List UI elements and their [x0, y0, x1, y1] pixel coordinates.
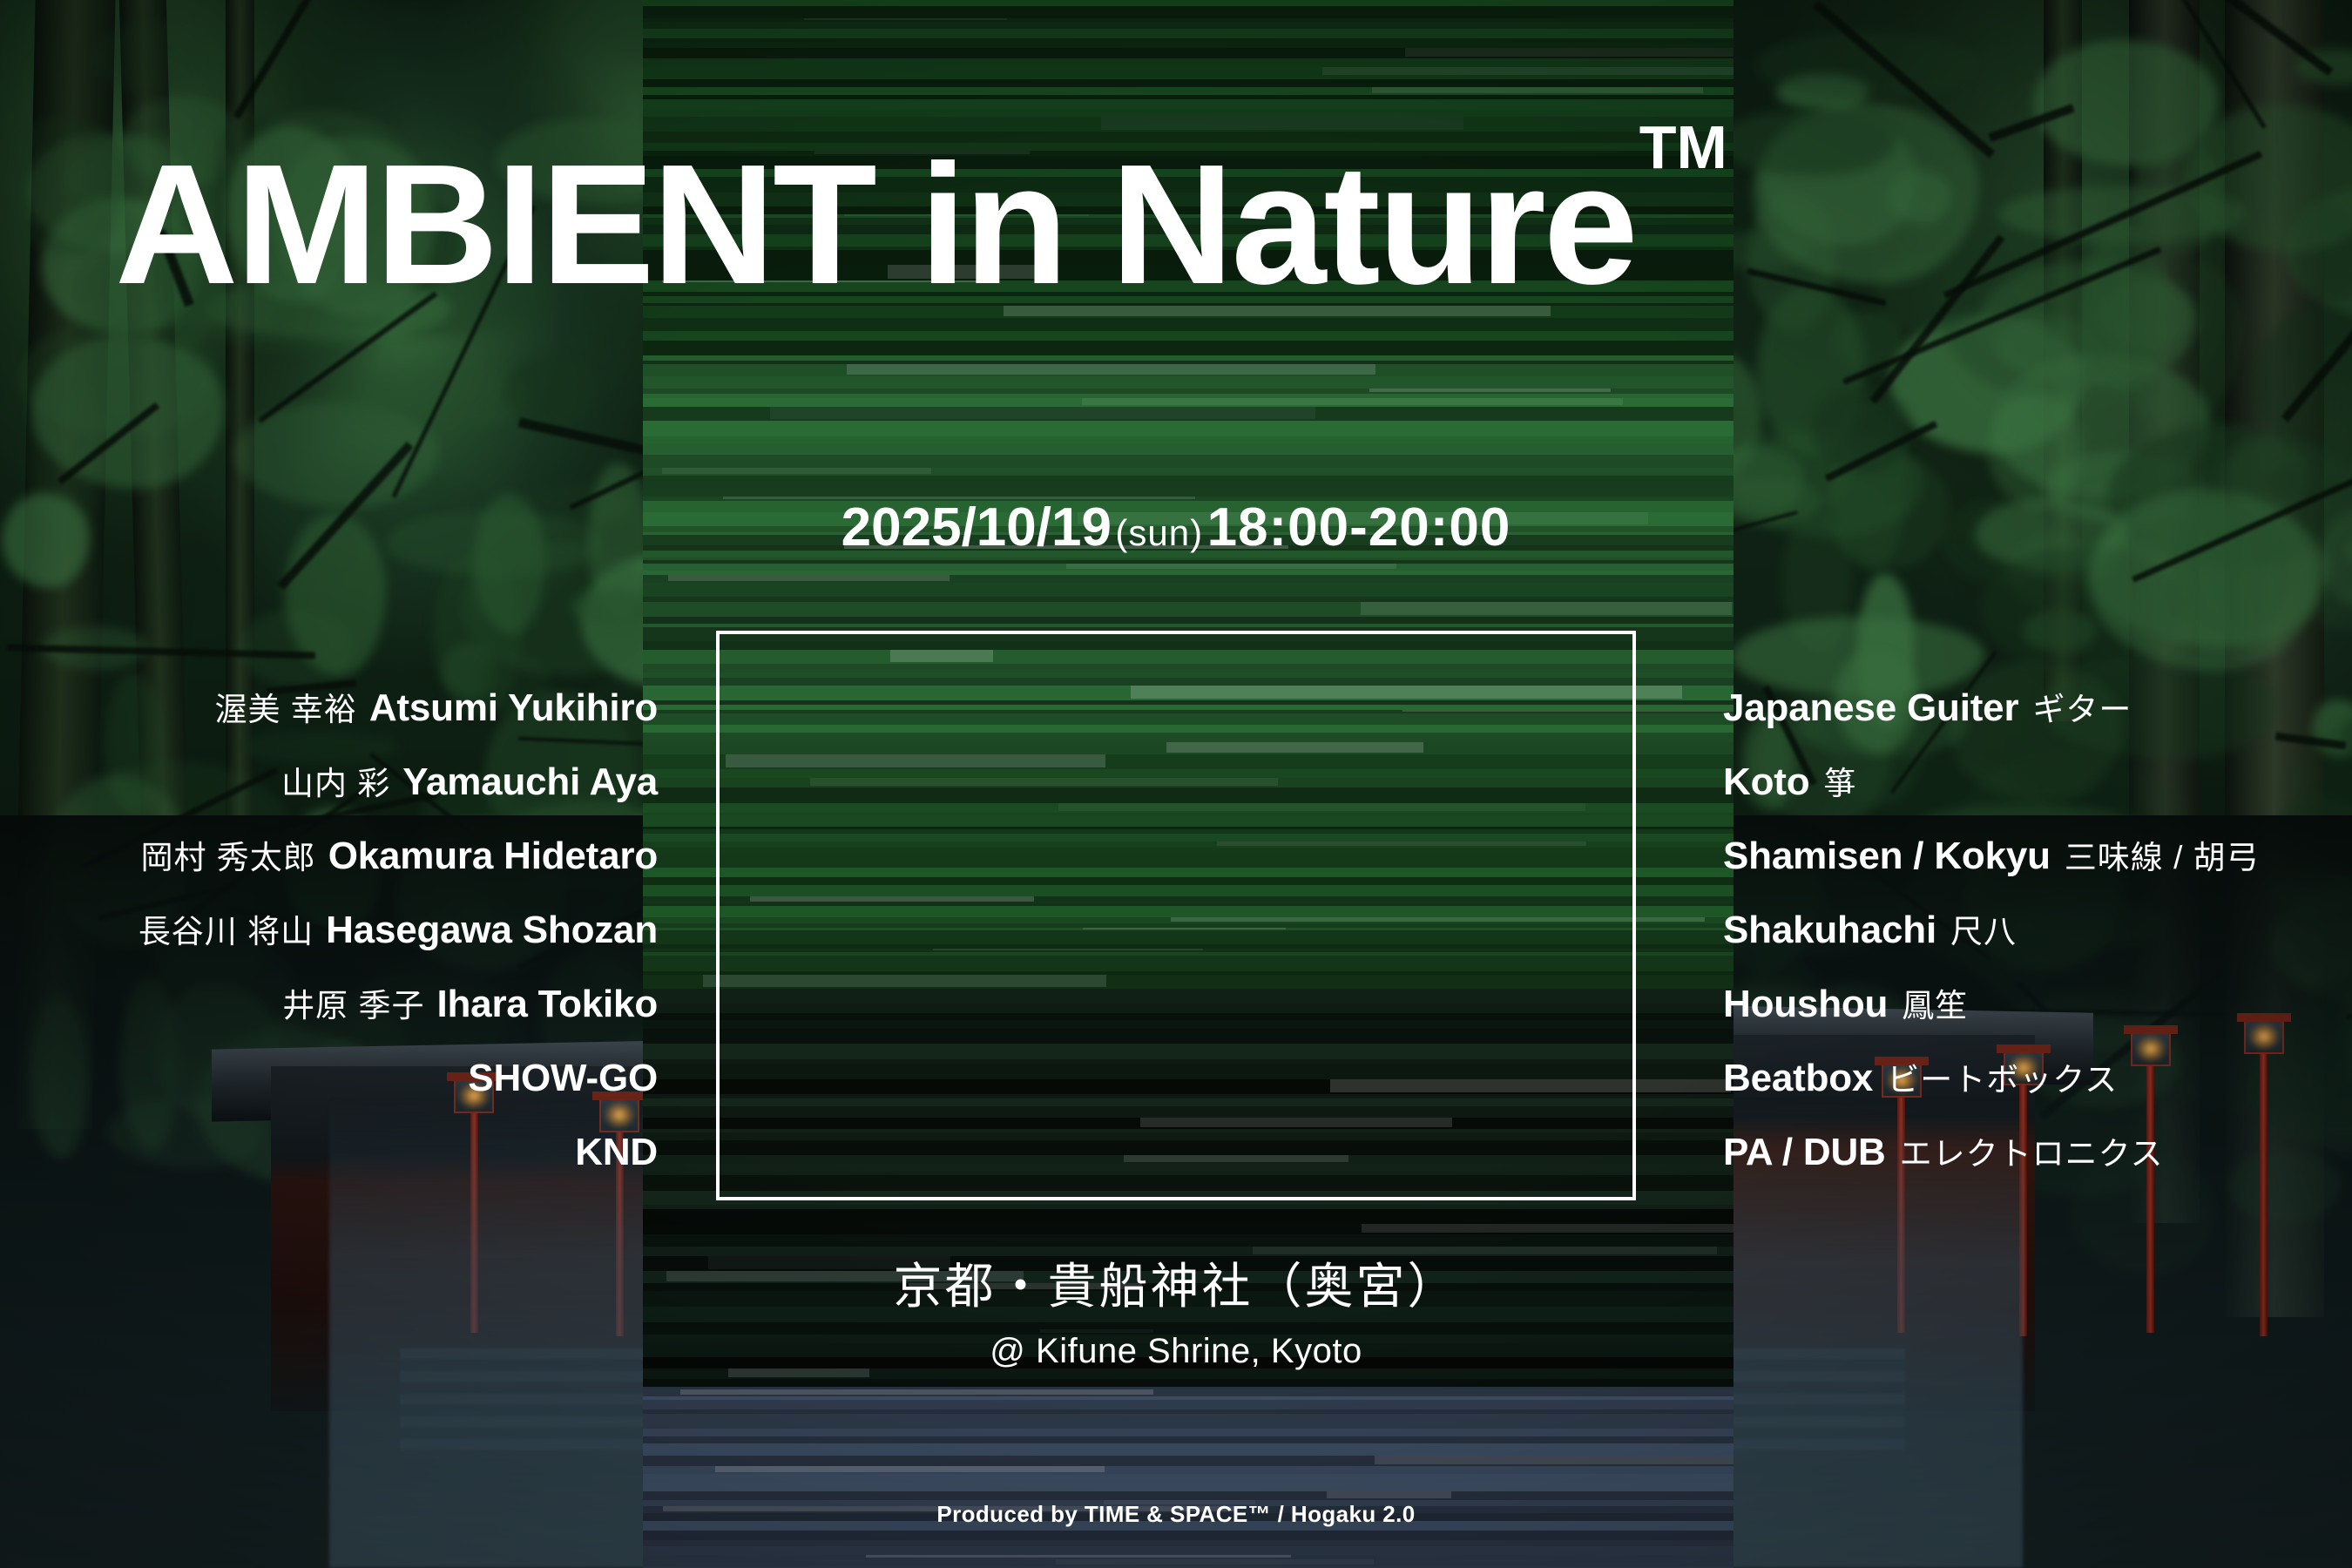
performer-name-en: SHOW-GO — [468, 1057, 658, 1099]
performer-name-jp: 渥美 幸裕 — [215, 692, 357, 727]
instrument-name-jp: ビートボックス — [1887, 1062, 2118, 1098]
performer-row: 山内 彩Yamauchi Aya — [0, 745, 658, 819]
instrument-row: Koto箏 — [1723, 745, 2350, 819]
instrument-row: Shamisen / Kokyu三味線 / 胡弓 — [1723, 819, 2350, 893]
instrument-row: Shakuhachi尺八 — [1723, 893, 2350, 967]
performer-name-en: KND — [575, 1131, 658, 1173]
event-weekday: (sun) — [1115, 512, 1203, 553]
instrument-name-en: Shakuhachi — [1723, 909, 1936, 951]
performer-name-jp: 長谷川 将山 — [139, 914, 314, 950]
instrument-row: Houshou鳳笙 — [1723, 967, 2350, 1041]
center-frame-rectangle — [716, 631, 1636, 1200]
event-date: 2025/10/19 — [841, 497, 1112, 558]
instrument-name-en: Koto — [1723, 760, 1809, 803]
instrument-name-jp: 三味線 / 胡弓 — [2065, 840, 2260, 875]
producer-credit: Produced by TIME & SPACE™ / Hogaku 2.0 — [0, 1501, 2352, 1528]
instrument-row: Beatboxビートボックス — [1723, 1041, 2350, 1115]
title-text: AMBIENT in Nature — [115, 129, 1636, 320]
performer-name-en: Atsumi Yukihiro — [369, 686, 658, 729]
instrument-list: Japanese GuiterギターKoto箏Shamisen / Kokyu三… — [1723, 671, 2350, 1189]
performer-name-jp: 岡村 秀太郎 — [140, 840, 315, 875]
instrument-name-jp: エレクトロニクス — [1900, 1136, 2164, 1172]
trademark-symbol: TM — [1639, 113, 1727, 181]
instrument-row: PA / DUBエレクトロニクス — [1723, 1115, 2350, 1189]
venue-block: 京都・貴船神社（奥宮） @ Kifune Shrine, Kyoto — [0, 1247, 2352, 1371]
instrument-name-jp: 鳳笙 — [1902, 988, 1968, 1024]
venue-name-en: @ Kifune Shrine, Kyoto — [0, 1332, 2352, 1371]
performer-row: 長谷川 将山Hasegawa Shozan — [0, 893, 658, 967]
performer-row: 渥美 幸裕Atsumi Yukihiro — [0, 671, 658, 745]
instrument-name-jp: 箏 — [1823, 766, 1856, 801]
performer-name-en: Yamauchi Aya — [402, 760, 658, 803]
performer-row: 岡村 秀太郎Okamura Hidetaro — [0, 819, 658, 893]
event-time: 18:00-20:00 — [1207, 497, 1511, 558]
instrument-name-en: Japanese Guiter — [1723, 686, 2018, 729]
performer-row: SHOW-GO — [0, 1041, 658, 1115]
performer-name-jp: 山内 彩 — [281, 766, 390, 801]
event-datetime: 2025/10/19 (sun) 18:00-20:00 — [0, 497, 2352, 558]
instrument-name-en: Shamisen / Kokyu — [1723, 835, 2051, 877]
venue-name-jp: 京都・貴船神社（奥宮） — [0, 1247, 2352, 1318]
performer-name-en: Okamura Hidetaro — [328, 835, 658, 877]
text-layer: AMBIENT in NatureTM 2025/10/19 (sun) 18:… — [0, 0, 2352, 1568]
performer-row: 井原 季子Ihara Tokiko — [0, 967, 658, 1041]
instrument-name-jp: 尺八 — [1950, 914, 2017, 950]
poster-canvas: AMBIENT in NatureTM 2025/10/19 (sun) 18:… — [0, 0, 2352, 1568]
page-title: AMBIENT in NatureTM — [115, 139, 1724, 310]
performer-name-en: Hasegawa Shozan — [326, 909, 658, 951]
performer-row: KND — [0, 1115, 658, 1189]
instrument-row: Japanese Guiterギター — [1723, 671, 2350, 745]
instrument-name-en: Houshou — [1723, 983, 1888, 1025]
instrument-name-jp: ギター — [2032, 692, 2132, 727]
performer-name-jp: 井原 季子 — [282, 988, 424, 1024]
instrument-name-en: Beatbox — [1723, 1057, 1873, 1099]
performer-list: 渥美 幸裕Atsumi Yukihiro山内 彩Yamauchi Aya岡村 秀… — [0, 671, 658, 1189]
performer-name-en: Ihara Tokiko — [436, 983, 658, 1025]
instrument-name-en: PA / DUB — [1723, 1131, 1886, 1173]
